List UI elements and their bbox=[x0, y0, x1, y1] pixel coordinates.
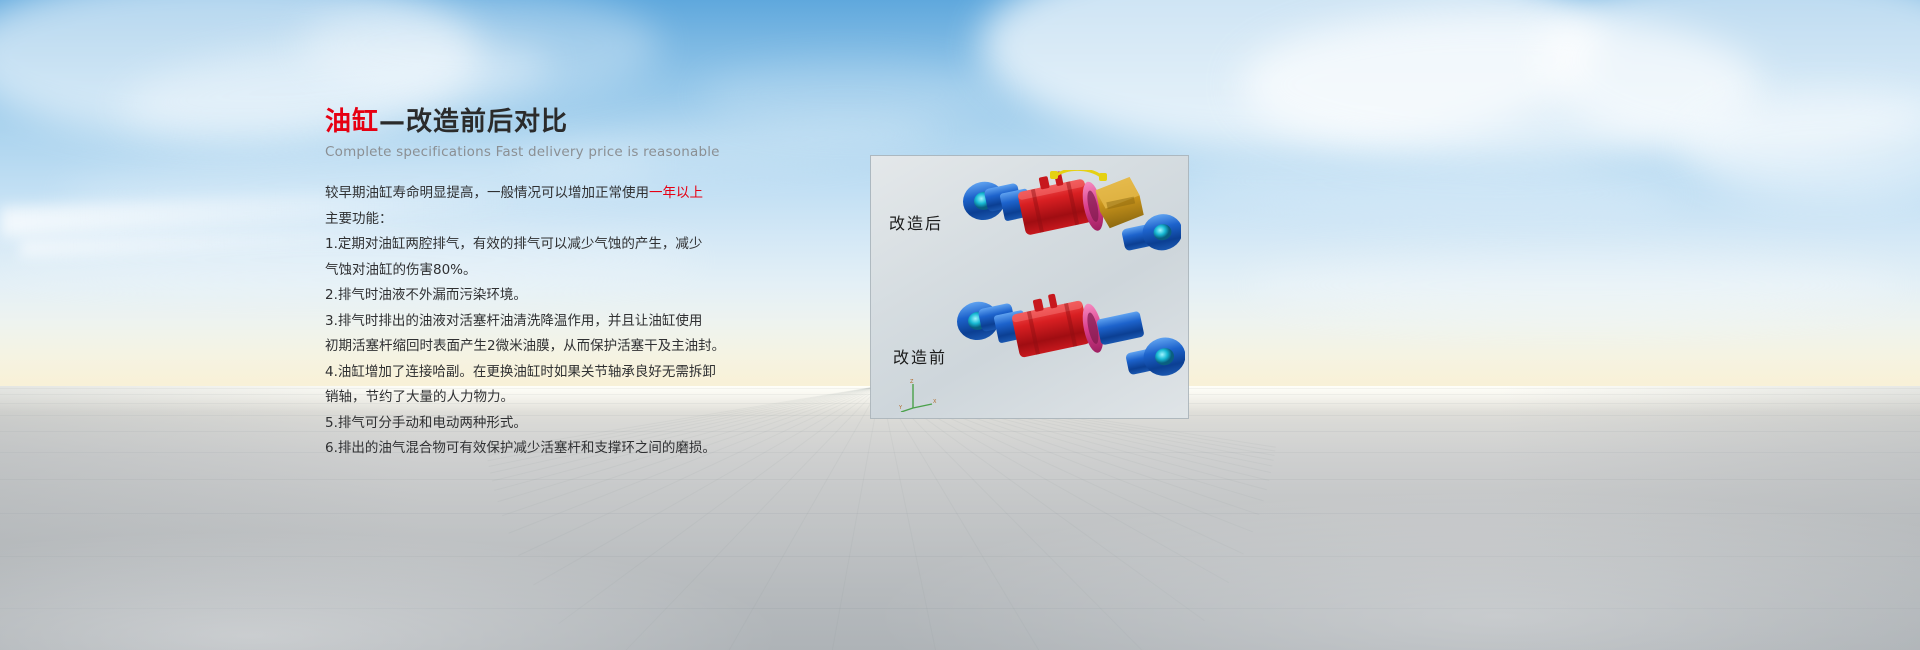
banner-body-text: 较早期油缸寿命明显提高，一般情况可以增加正常使用一年以上 主要功能： 1.定期对… bbox=[325, 181, 755, 462]
label-before-modification: 改造前 bbox=[893, 344, 947, 368]
title-rest: —改造前后对比 bbox=[379, 107, 568, 137]
feature-line: 销轴，节约了大量的人力物力。 bbox=[325, 385, 755, 411]
axis-triad-icon: Z X Y bbox=[899, 378, 939, 412]
hero-banner: 油缸—改造前后对比 Complete specifications Fast d… bbox=[0, 0, 1920, 650]
feature-line: 初期活塞杆缩回时表面产生2微米油膜，从而保护活塞干及主油封。 bbox=[325, 334, 755, 360]
feature-line: 5.排气可分手动和电动两种形式。 bbox=[325, 411, 755, 437]
product-comparison-panel: 改造后 改造前 Z X Y bbox=[871, 156, 1188, 418]
page-subtitle: Complete specifications Fast delivery pr… bbox=[325, 144, 755, 160]
feature-line: 3.排气时排出的油液对活塞杆油清洗降温作用，并且让油缸使用 bbox=[325, 309, 755, 335]
label-after-modification: 改造后 bbox=[889, 210, 943, 234]
svg-text:X: X bbox=[933, 399, 937, 405]
feature-line: 6.排出的油气混合物可有效保护减少活塞杆和支撑环之间的磨损。 bbox=[325, 436, 755, 462]
body-intro-line: 较早期油缸寿命明显提高，一般情况可以增加正常使用一年以上 bbox=[325, 181, 755, 207]
feature-line: 1.定期对油缸两腔排气，有效的排气可以减少气蚀的产生，减少 bbox=[325, 232, 755, 258]
pavement-background bbox=[0, 386, 1920, 650]
feature-line: 4.油缸增加了连接哈副。在更换油缸时如果关节轴承良好无需拆卸 bbox=[325, 360, 755, 386]
page-title: 油缸—改造前后对比 bbox=[325, 105, 755, 139]
banner-text-block: 油缸—改造前后对比 Complete specifications Fast d… bbox=[325, 105, 755, 462]
pavement-shading bbox=[0, 386, 1920, 650]
intro-text: 较早期油缸寿命明显提高，一般情况可以增加正常使用 bbox=[325, 185, 649, 201]
feature-line: 气蚀对油缸的伤害80%。 bbox=[325, 258, 755, 284]
body-features-label: 主要功能： bbox=[325, 207, 755, 233]
intro-highlight: 一年以上 bbox=[649, 185, 703, 201]
cloud-shape bbox=[1179, 151, 1681, 223]
svg-text:Z: Z bbox=[910, 379, 914, 385]
svg-text:Y: Y bbox=[899, 405, 903, 411]
feature-line: 2.排气时油液不外漏而污染环境。 bbox=[325, 283, 755, 309]
cylinder-after-modification bbox=[951, 170, 1181, 285]
title-highlight: 油缸 bbox=[325, 107, 379, 137]
cloud-shape bbox=[1250, 250, 1900, 320]
cylinder-before-modification bbox=[947, 292, 1185, 410]
